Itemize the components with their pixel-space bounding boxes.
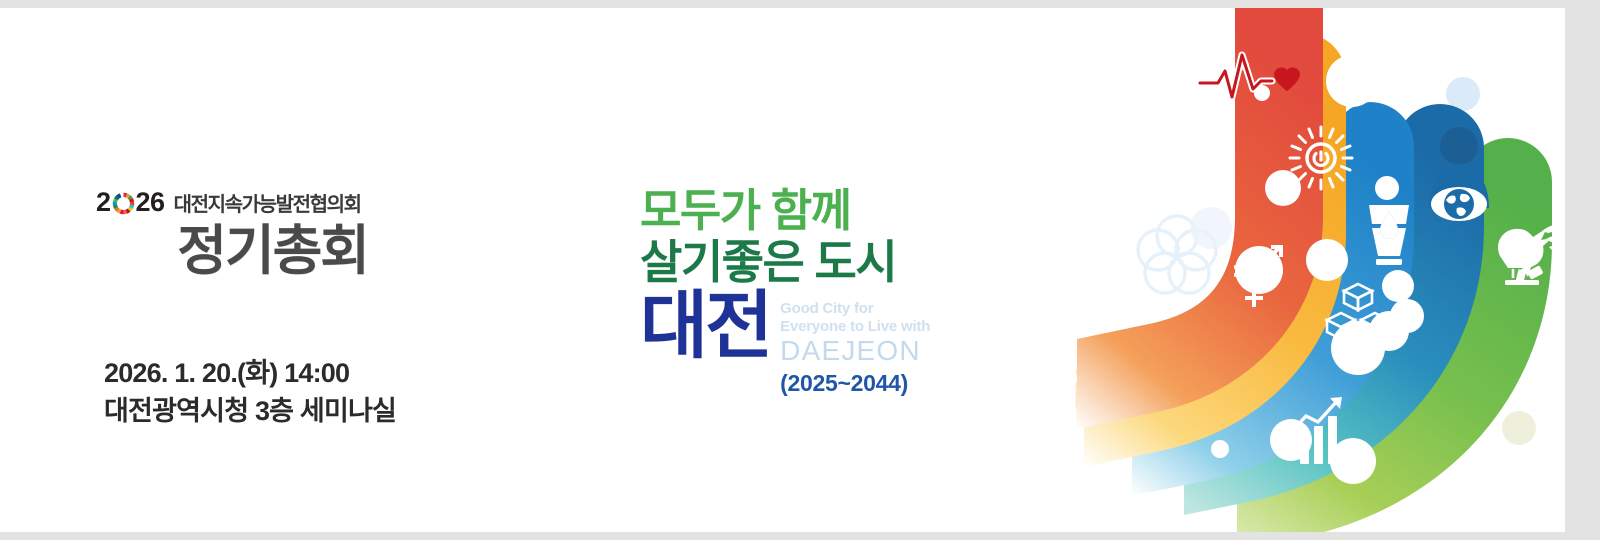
sun-energy-icon	[1290, 127, 1352, 189]
page-title: 정기총회	[96, 223, 368, 280]
slogan-english-line-2: Everyone to Live with	[780, 318, 930, 335]
organization-logo-row: 2	[96, 186, 496, 216]
event-identity-block: 2	[96, 186, 496, 280]
flower-outline-watermark	[1138, 207, 1232, 293]
slogan-line-1: 모두가 함께	[640, 188, 1020, 235]
slogan-line-2: 살기좋은 도시	[640, 237, 1020, 289]
year-logo: 2	[96, 189, 165, 216]
slogan-daejeon: 대전	[640, 290, 770, 363]
slogan-year-range: (2025~2044)	[780, 372, 930, 395]
event-datetime: 2026. 1. 20.(화) 14:00	[104, 354, 396, 392]
city-vision-slogan: 모두가 함께 살기좋은 도시 대전 Good City for Everyone…	[640, 188, 1020, 395]
slogan-english-line-1: Good City for	[780, 300, 930, 317]
slogan-line-3-row: 대전 Good City for Everyone to Live with D…	[640, 290, 1020, 395]
banner-canvas: 2	[0, 8, 1565, 532]
year-digit-2: 2	[96, 189, 111, 216]
slogan-english-column: Good City for Everyone to Live with DAEJ…	[780, 290, 930, 395]
year-digits-26: 26	[136, 189, 165, 216]
event-details-block: 2026. 1. 20.(화) 14:00 대전광역시청 3층 세미나실	[104, 354, 396, 431]
sdg-color-wheel-icon	[112, 192, 135, 215]
organization-name: 대전지속가능발전협의회	[174, 195, 361, 215]
sdg-rainbow-arc-graphic	[1059, 8, 1565, 532]
event-location: 대전광역시청 3층 세미나실	[104, 392, 396, 430]
slogan-english-daejeon: DAEJEON	[780, 336, 930, 365]
event-banner: 2	[0, 0, 1600, 540]
